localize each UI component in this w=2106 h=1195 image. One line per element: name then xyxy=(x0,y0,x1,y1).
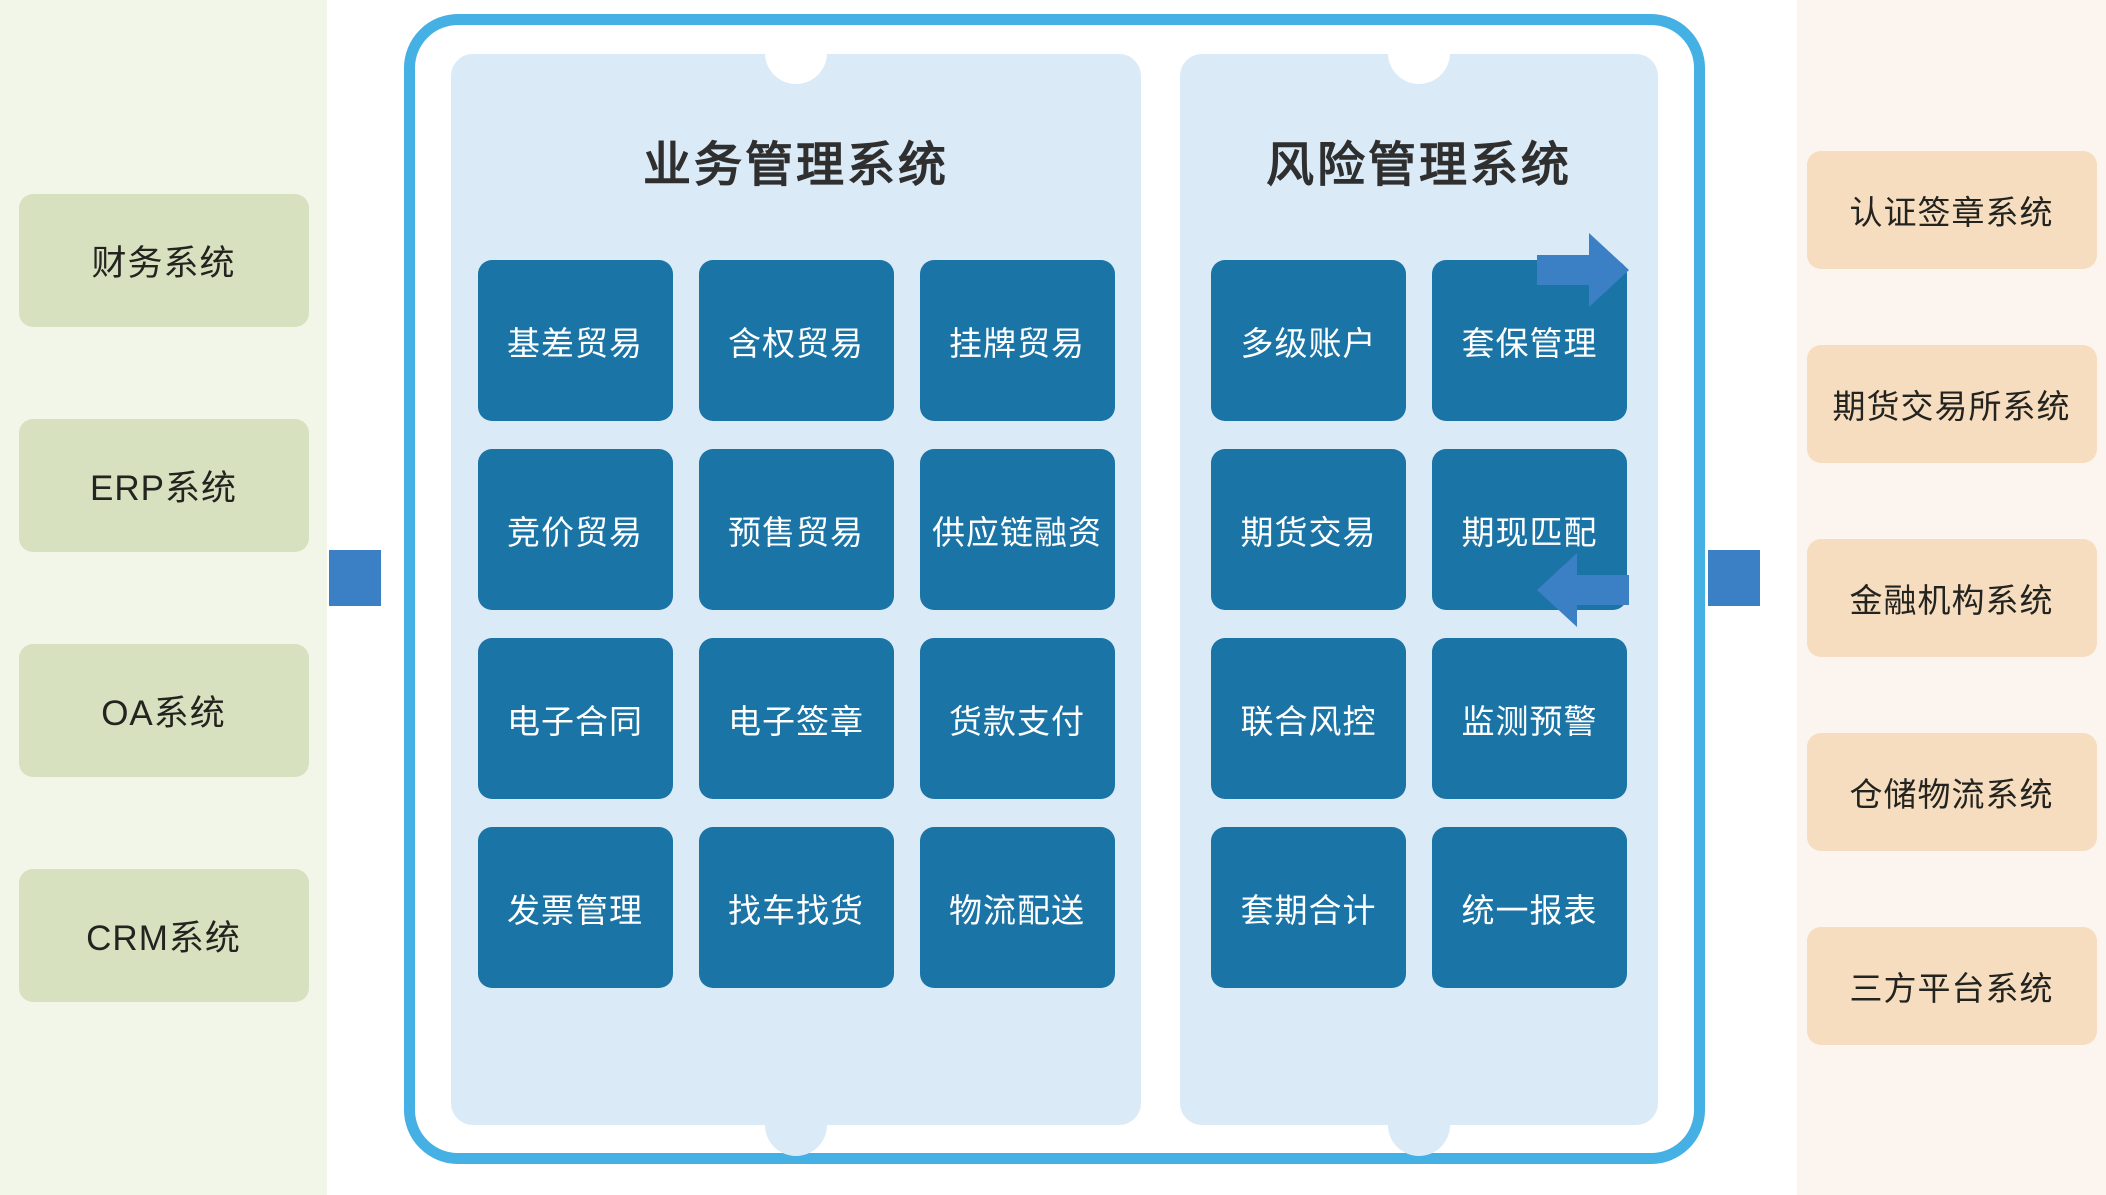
module-tile-label: 货款支付 xyxy=(949,695,1085,743)
module-tile-label: 套保管理 xyxy=(1462,317,1598,365)
external-system-label: OA系统 xyxy=(101,685,226,736)
module-tile-label: 电子签章 xyxy=(728,695,864,743)
module-tile[interactable]: 监测预警 xyxy=(1432,638,1627,799)
module-tile[interactable]: 物流配送 xyxy=(920,827,1115,988)
panel-top-notch xyxy=(765,53,827,84)
external-system-chip[interactable]: CRM系统 xyxy=(19,869,309,1002)
external-system-label: 财务系统 xyxy=(91,235,235,286)
external-system-chip[interactable]: 期货交易所系统 xyxy=(1807,345,2097,463)
module-tile[interactable]: 电子合同 xyxy=(478,638,673,799)
left-connector-block xyxy=(329,550,381,606)
arrow-right-icon xyxy=(1537,229,1629,311)
module-tile[interactable]: 多级账户 xyxy=(1211,260,1406,421)
diagram-canvas: 财务系统 ERP系统 OA系统 CRM系统 业务管理系统 基差贸易 含权贸易 挂 xyxy=(0,0,2106,1195)
panel-title: 风险管理系统 xyxy=(1266,142,1572,190)
external-system-label: 认证签章系统 xyxy=(1850,186,2054,234)
module-tile[interactable]: 发票管理 xyxy=(478,827,673,988)
panel-business-management-system: 业务管理系统 基差贸易 含权贸易 挂牌贸易 竞价贸易 预售贸易 供应链融资 电子… xyxy=(451,54,1141,1125)
external-system-label: ERP系统 xyxy=(90,460,237,511)
module-tile-label: 联合风控 xyxy=(1241,695,1377,743)
module-tile-label: 多级账户 xyxy=(1241,317,1377,365)
module-tile-label: 含权贸易 xyxy=(728,317,864,365)
module-tile[interactable]: 找车找货 xyxy=(699,827,894,988)
module-tile[interactable]: 货款支付 xyxy=(920,638,1115,799)
left-external-systems-column: 财务系统 ERP系统 OA系统 CRM系统 xyxy=(0,0,327,1195)
external-system-label: CRM系统 xyxy=(86,910,241,961)
panel-top-notch xyxy=(1388,53,1450,84)
module-tile-label: 供应链融资 xyxy=(932,506,1102,554)
external-system-chip[interactable]: 财务系统 xyxy=(19,194,309,327)
external-system-label: 三方平台系统 xyxy=(1850,962,2054,1010)
panel-bottom-tab xyxy=(1388,1125,1450,1156)
module-tile[interactable]: 含权贸易 xyxy=(699,260,894,421)
module-tile-label: 电子合同 xyxy=(507,695,643,743)
external-system-chip[interactable]: 三方平台系统 xyxy=(1807,927,2097,1045)
right-connector-block xyxy=(1708,550,1760,606)
module-tile[interactable]: 预售贸易 xyxy=(699,449,894,610)
module-tile[interactable]: 挂牌贸易 xyxy=(920,260,1115,421)
external-system-label: 金融机构系统 xyxy=(1850,574,2054,622)
module-tile-label: 竞价贸易 xyxy=(507,506,643,554)
module-tile-label: 预售贸易 xyxy=(728,506,864,554)
external-system-chip[interactable]: 仓储物流系统 xyxy=(1807,733,2097,851)
module-tile[interactable]: 竞价贸易 xyxy=(478,449,673,610)
module-tile-label: 找车找货 xyxy=(728,884,864,932)
module-tile[interactable]: 套期合计 xyxy=(1211,827,1406,988)
module-tile-label: 期货交易 xyxy=(1241,506,1377,554)
module-tile[interactable]: 基差贸易 xyxy=(478,260,673,421)
right-external-systems-column: 认证签章系统 期货交易所系统 金融机构系统 仓储物流系统 三方平台系统 xyxy=(1797,0,2106,1195)
module-tile[interactable]: 联合风控 xyxy=(1211,638,1406,799)
module-tile[interactable]: 统一报表 xyxy=(1432,827,1627,988)
external-system-label: 期货交易所系统 xyxy=(1833,380,2071,428)
panel-bottom-tab xyxy=(765,1125,827,1156)
external-system-chip[interactable]: ERP系统 xyxy=(19,419,309,552)
module-tile-label: 套期合计 xyxy=(1241,884,1377,932)
module-tile-label: 统一报表 xyxy=(1462,884,1598,932)
module-tile-label: 挂牌贸易 xyxy=(949,317,1085,365)
panels-row: 业务管理系统 基差贸易 含权贸易 挂牌贸易 竞价贸易 预售贸易 供应链融资 电子… xyxy=(415,25,1694,1153)
module-tile-label: 物流配送 xyxy=(949,884,1085,932)
module-tile-label: 基差贸易 xyxy=(507,317,643,365)
panel-title: 业务管理系统 xyxy=(643,142,949,190)
external-system-chip[interactable]: 金融机构系统 xyxy=(1807,539,2097,657)
platform-frame: 业务管理系统 基差贸易 含权贸易 挂牌贸易 竞价贸易 预售贸易 供应链融资 电子… xyxy=(404,14,1705,1164)
module-tile[interactable]: 供应链融资 xyxy=(920,449,1115,610)
module-tile-label: 发票管理 xyxy=(507,884,643,932)
module-tile-label: 期现匹配 xyxy=(1462,506,1598,554)
arrow-left-icon xyxy=(1537,549,1629,631)
business-tile-grid: 基差贸易 含权贸易 挂牌贸易 竞价贸易 预售贸易 供应链融资 电子合同 电子签章… xyxy=(478,260,1115,988)
module-tile[interactable]: 电子签章 xyxy=(699,638,894,799)
external-system-chip[interactable]: OA系统 xyxy=(19,644,309,777)
external-system-chip[interactable]: 认证签章系统 xyxy=(1807,151,2097,269)
module-tile-label: 监测预警 xyxy=(1462,695,1598,743)
external-system-label: 仓储物流系统 xyxy=(1850,768,2054,816)
module-tile[interactable]: 期货交易 xyxy=(1211,449,1406,610)
